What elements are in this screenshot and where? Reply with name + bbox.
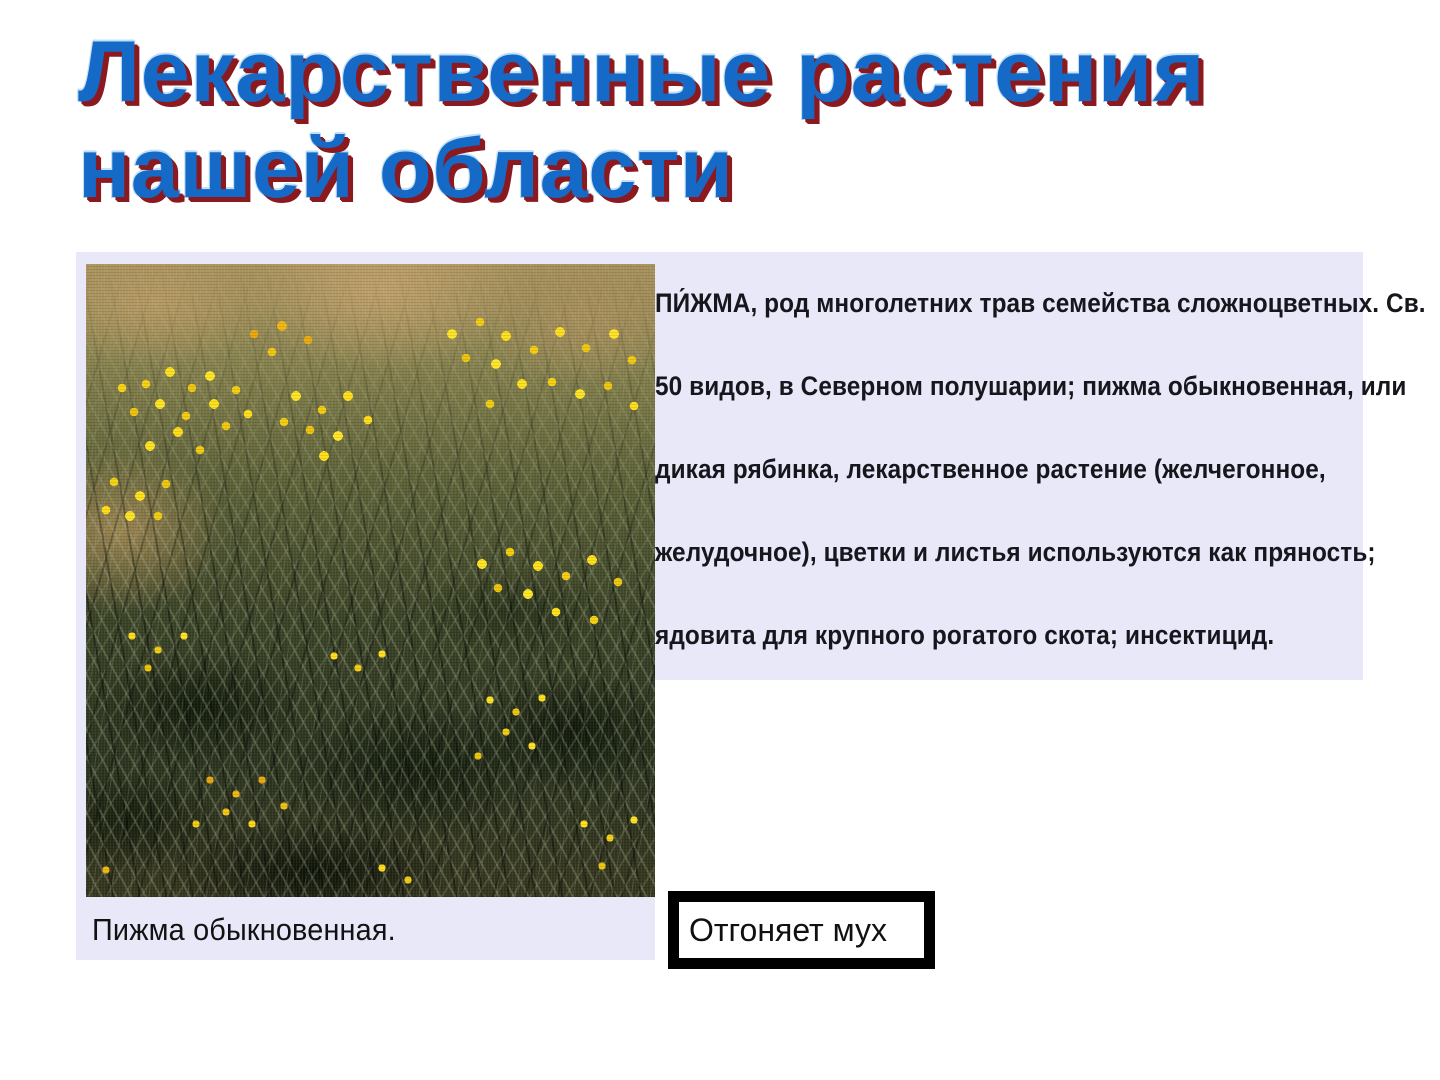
photo-caption: Пижма обыкновенная. — [92, 912, 396, 948]
article-line: ядовита для крупного рогатого скота; инс… — [655, 594, 1316, 677]
photo-grain-layer — [86, 264, 655, 897]
article-line: желудочное), цветки и листья используютс… — [655, 511, 1316, 594]
note-box: Отгоняет мух — [668, 891, 935, 969]
article-line: ПИ́ЖМА, род многолетних трав семейства с… — [655, 262, 1316, 345]
slide-root: { "slide": { "background_color": "#fffff… — [0, 0, 1440, 1080]
article-text: ПИ́ЖМА, род многолетних трав семейства с… — [655, 262, 1316, 677]
page-title-line-2: нашей области — [78, 120, 1417, 216]
page-title: Лекарственные растения нашей области — [78, 24, 1378, 216]
tansy-photo — [86, 264, 655, 897]
article-line: 50 видов, в Северном полушарии; пижма об… — [655, 345, 1316, 428]
article-line: дикая рябинка, лекарственное растение (ж… — [655, 428, 1316, 511]
note-box-label: Отгоняет мух — [679, 912, 887, 949]
page-title-line-1: Лекарственные растения — [78, 24, 1417, 120]
